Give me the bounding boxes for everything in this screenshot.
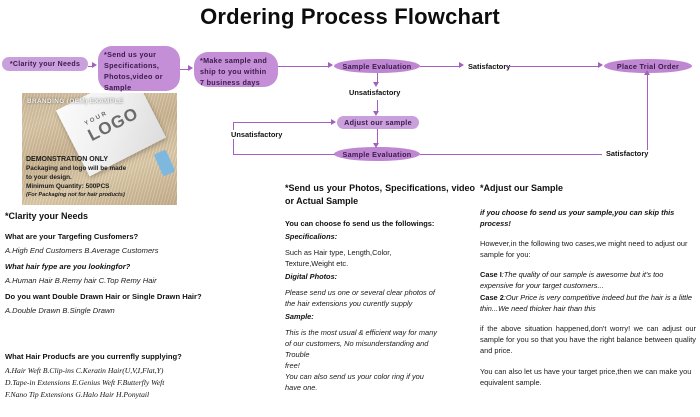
col1-answer-4-line-2: D.Tape-in Extensions E.Genius Weft F.But… (5, 377, 275, 388)
col2-heading: *Send us your Photos, Specifications, vi… (285, 182, 475, 208)
photo-brand-caption: BRANDING (OEM) EXAMPLE (27, 98, 124, 105)
flow-node-sample-evaluation-1[interactable]: Sample Evaluation (334, 59, 420, 73)
col3-paragraph-2: You can also let us have your target pri… (480, 366, 696, 388)
demo-line-2: Packaging and logo will be made (26, 164, 176, 173)
col2-body2-line-1: Please send us one or several clear phot… (285, 287, 475, 298)
connector-make-eval1 (278, 66, 329, 67)
column-adjust-our-sample: *Adjust our Sample if you choose fo send… (480, 182, 696, 394)
col1-spacer (5, 321, 275, 351)
col3-however: However,in the following two cases,we mi… (480, 238, 696, 260)
flow-node-make[interactable]: *Make sample and ship to you within 7 bu… (194, 52, 278, 87)
col2-body3-line-1: This is the most usual & efficient way f… (285, 327, 475, 338)
col3-case-2: Case 2:Our Price is very competitive ind… (480, 292, 696, 314)
arrow-send-make (188, 65, 193, 71)
col3-case-2-label: Case 2 (480, 293, 504, 302)
arrow-loop-adjust (331, 119, 336, 125)
col3-paragraph-1: if the above situation happened,don't wo… (480, 323, 696, 356)
col2-body3-line-4: free! (285, 360, 475, 371)
col3-skip-note: if you choose fo send us your sample,you… (480, 207, 696, 229)
branding-example-photo: YOUR LOGO BRANDING (OEM) EXAMPLE DEMONST… (22, 93, 177, 205)
flow-label-satisfactory-bottom: Satisfactory (604, 149, 650, 158)
demo-line-5: (For Packaging not for hair products) (26, 191, 176, 200)
slide-root: Ordering Process Flowchart *Clarity your… (0, 0, 700, 417)
arrow-adjust-eval2 (373, 143, 379, 148)
arrow-unsat-adjust (373, 111, 379, 116)
col3-case-1-text: :The quality of our sample is awesome bu… (480, 270, 663, 290)
flow-node-sample-evaluation-2[interactable]: Sample Evaluation (334, 147, 420, 161)
col1-question-2: What hair fype are you lookingfor? (5, 261, 275, 272)
demo-line-3: to your design. (26, 173, 176, 182)
arrow-satisfactory-place (598, 62, 603, 68)
arrow-eval1-down (373, 82, 379, 87)
col1-answer-2: A.Human Hair B.Remy hair C.Top Remy Hair (5, 275, 275, 286)
connector-loop-right (233, 122, 332, 123)
col2-body3-line-5: You can also send us your color ring if … (285, 371, 475, 382)
flow-node-clarify[interactable]: *Clarity your Needs (2, 57, 88, 71)
connector-eval1-satisfactory (420, 66, 460, 67)
col3-heading: *Adjust our Sample (480, 182, 696, 195)
connector-eval2-satisfactory (420, 154, 602, 155)
arrow-clarify-send (92, 62, 97, 68)
flow-label-unsatisfactory-left: Unsatisfactory (229, 130, 284, 139)
column-clarify-needs: *Clarity your Needs What are your Targef… (5, 210, 275, 401)
connector-eval2-left (233, 154, 335, 155)
col2-body1-line-1: Such as Hair type, Length,Color, (285, 247, 475, 258)
col3-case-2-text: :Our Price is very competitive indeed bu… (480, 293, 692, 313)
col1-heading: *Clarity your Needs (5, 210, 275, 223)
col1-answer-3: A.Double Drawn B.Single Drawn (5, 305, 275, 316)
col2-intro: You can choose fo send us the followings… (285, 218, 475, 229)
col1-question-4: What Hair Producfs are you currenfly sup… (5, 351, 275, 362)
col1-question-1: What are your Targefing Cusfomers? (5, 231, 275, 242)
col2-body3-line-3: Trouble (285, 349, 475, 360)
connector-satisfactory-place (506, 66, 599, 67)
column-send-us-your-photos: *Send us your Photos, Specifications, vi… (285, 182, 475, 393)
col1-answer-1: A.High End Customers B.Average Customers (5, 245, 275, 256)
connector-satisfactory-up (647, 74, 648, 150)
arrow-eval1-satisfactory (459, 62, 464, 68)
col2-body3-line-6: have one. (285, 382, 475, 393)
photo-demo-note: DEMONSTRATION ONLY Packaging and logo wi… (26, 155, 176, 200)
col1-answer-4-line-3: F.Nano Tip Extensions G.Halo Hair H.Pony… (5, 389, 275, 400)
arrow-make-eval1 (328, 62, 333, 68)
col2-body1-line-2: Texture,Weight etc. (285, 258, 475, 269)
col2-subheading-sample: Sample: (285, 311, 475, 322)
demo-line-4: Minimum Quantity: 500PCS (26, 182, 176, 191)
flow-label-unsatisfactory-mid: Unsatisfactory (347, 88, 402, 97)
col2-body2-line-2: the hair extensions you curently supply (285, 298, 475, 309)
col1-question-3: Do you want Double Drawn Hair or Single … (5, 291, 275, 302)
col2-subheading-digital-photos: Digital Photos: (285, 271, 475, 282)
col3-case-1: Case I:The quality of our sample is awes… (480, 269, 696, 291)
page-title: Ordering Process Flowchart (0, 4, 700, 30)
col3-case-1-label: Case I (480, 270, 502, 279)
flow-node-adjust-our-sample[interactable]: Adjust our sample (337, 116, 419, 129)
col2-subheading-specifications: Specificalions: (285, 231, 475, 242)
flow-node-send[interactable]: *Send us your Specifications, Photos,vid… (98, 46, 180, 91)
col2-body3-line-2: of our customers, No misunderstanding an… (285, 338, 475, 349)
arrow-satisfactory-up (644, 70, 650, 75)
demo-line-1: DEMONSTRATION ONLY (26, 155, 176, 164)
col1-answer-4-line-1: A.Hair Weft B.Clip-ins C.Keratin Hair(U,… (5, 365, 275, 376)
